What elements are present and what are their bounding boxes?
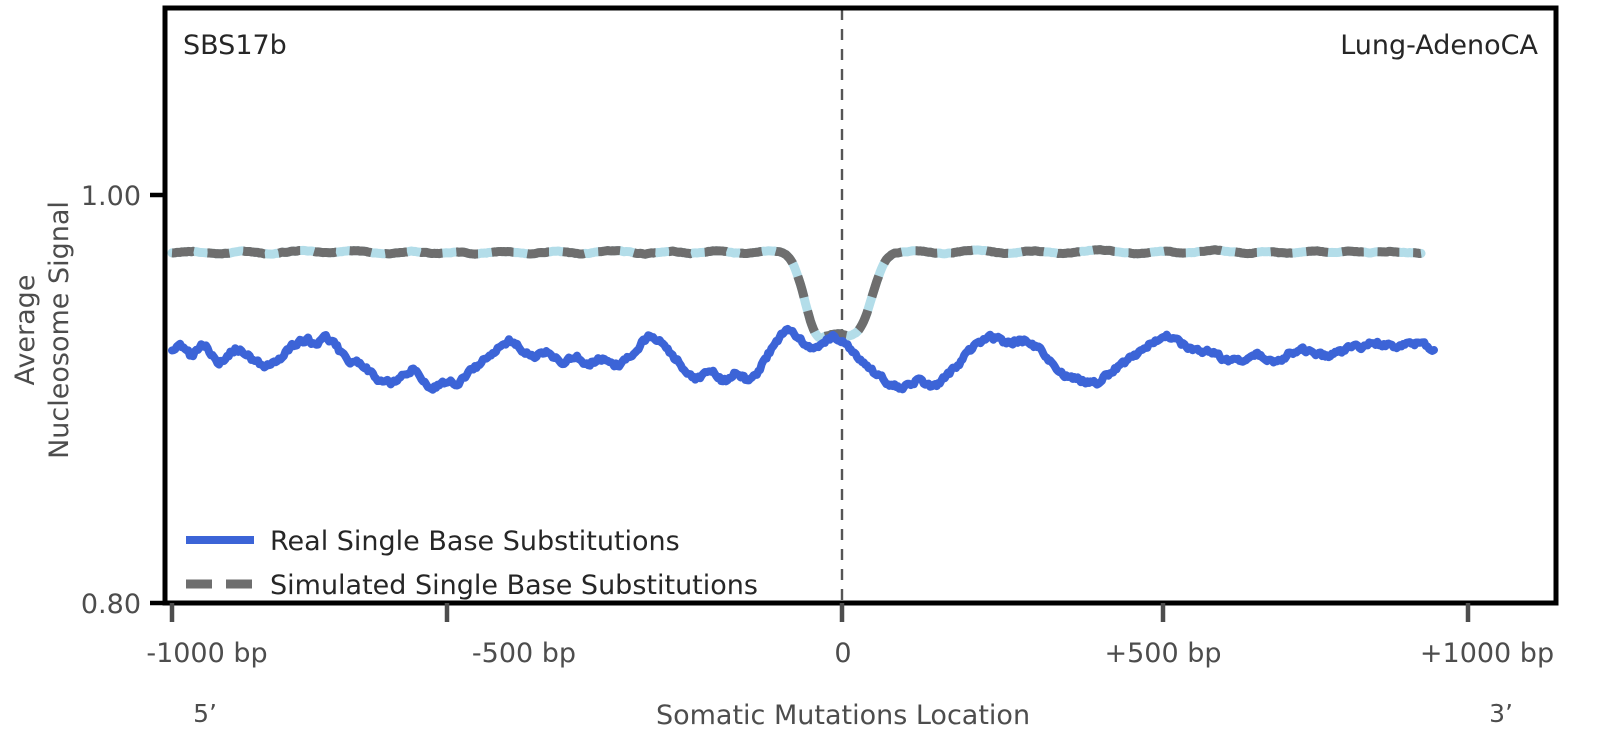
chart-svg: 1.00 0.80 Average Nucleosome Signal -100… (0, 0, 1603, 756)
three-prime-label: 3’ (1489, 699, 1513, 728)
x-tick-label-0: 0 (834, 638, 851, 669)
y-axis-title-line-1: Average (10, 275, 41, 386)
y-axis-title: Average Nucleosome Signal (10, 201, 75, 459)
x-tick-label--500: -500 bp (472, 638, 576, 669)
y-axis-title-line-2: Nucleosome Signal (44, 201, 75, 459)
legend-label-simulated: Simulated Single Base Substitutions (270, 570, 758, 601)
y-tick-label-upper: 1.00 (81, 181, 141, 212)
x-tick-label-500: +500 bp (1104, 638, 1221, 669)
x-tick-label--1000: -1000 bp (146, 638, 267, 669)
cancer-type-label: Lung-AdenoCA (1340, 30, 1538, 61)
chart-figure: 1.00 0.80 Average Nucleosome Signal -100… (0, 0, 1603, 756)
x-axis-title: Somatic Mutations Location (656, 700, 1030, 731)
x-tick-label-1000: +1000 bp (1420, 638, 1554, 669)
y-tick-label-lower: 0.80 (81, 589, 141, 620)
x-axis-ticks: -1000 bp -500 bp 0 +500 bp +1000 bp (146, 603, 1554, 669)
legend-label-real: Real Single Base Substitutions (270, 526, 680, 557)
plot-background (165, 8, 1556, 603)
five-prime-label: 5’ (193, 699, 217, 728)
y-axis-ticks: 1.00 0.80 (81, 181, 165, 620)
signature-label: SBS17b (183, 30, 287, 61)
